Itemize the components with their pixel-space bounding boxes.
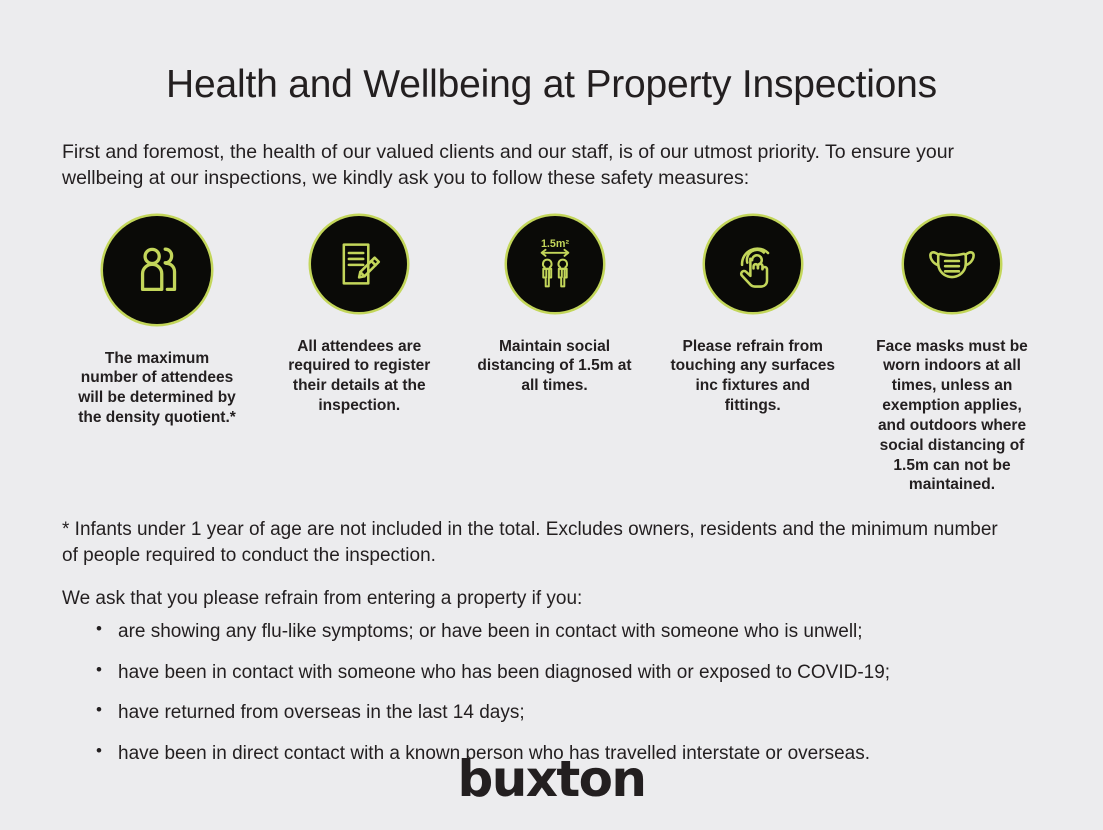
intro-paragraph: First and foremost, the health of our va… [0, 109, 1074, 192]
measure-caption: All attendees are required to register t… [284, 337, 434, 416]
measure-caption: Please refrain from touching any surface… [667, 337, 839, 416]
measure-item-distancing: 1.5m² [467, 216, 643, 396]
measure-item-attendees: The maximum number of attendees will be … [62, 216, 252, 428]
list-item: are showing any flu-like symptoms; or ha… [118, 619, 1041, 645]
document-pencil-icon-glyph [332, 237, 386, 291]
two-people-icon-glyph [126, 239, 188, 301]
social-distancing-icon: 1.5m² [507, 216, 603, 312]
safety-notice-page: Health and Wellbeing at Property Inspect… [0, 0, 1103, 830]
bottom-section: * Infants under 1 year of age are not in… [0, 495, 1103, 766]
document-pencil-icon [311, 216, 407, 312]
distance-label-text: 1.5m² [540, 237, 569, 249]
face-mask-icon-glyph [921, 233, 983, 295]
page-title: Health and Wellbeing at Property Inspect… [0, 0, 1103, 109]
measure-item-register: All attendees are required to register t… [273, 216, 445, 416]
face-mask-icon [904, 216, 1000, 312]
measures-row: The maximum number of attendees will be … [0, 192, 1103, 496]
measure-caption: Face masks must be worn indoors at all t… [870, 337, 1035, 496]
touch-hand-icon-glyph [725, 236, 781, 292]
measure-item-no-touch: Please refrain from touching any surface… [664, 216, 842, 416]
footnote-text: * Infants under 1 year of age are not in… [62, 517, 1002, 568]
measure-item-face-mask: Face masks must be worn indoors at all t… [863, 216, 1041, 496]
ask-intro-text: We ask that you please refrain from ente… [62, 586, 1041, 612]
measure-caption: The maximum number of attendees will be … [77, 349, 237, 428]
list-item: have been in contact with someone who ha… [118, 660, 1041, 686]
list-item: have returned from overseas in the last … [118, 700, 1041, 726]
rules-list: are showing any flu-like symptoms; or ha… [62, 619, 1041, 767]
touch-hand-icon [705, 216, 801, 312]
social-distancing-icon-glyph: 1.5m² [524, 233, 586, 295]
two-people-icon [103, 216, 211, 324]
buxton-logo: buxton [458, 750, 646, 808]
measure-caption: Maintain social distancing of 1.5m at al… [475, 337, 635, 396]
brand-logo-wrap: buxton [0, 750, 1103, 808]
